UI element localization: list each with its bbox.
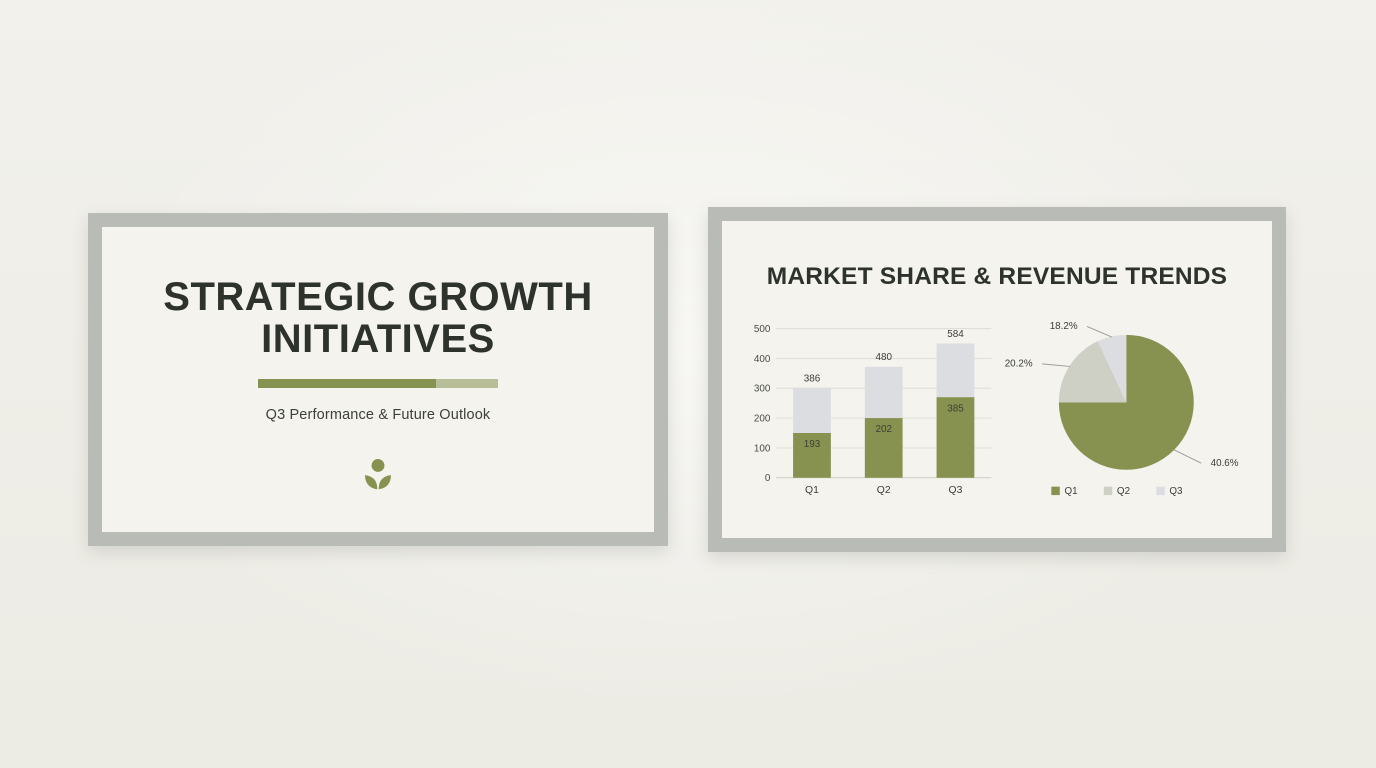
divider-segment-dark <box>258 379 436 388</box>
sprout-icon <box>360 457 396 491</box>
stacked-bar-chart[interactable]: 0100200300400500386193Q1480202Q2584385Q3 <box>744 307 997 522</box>
legend-swatch-Q1 <box>1051 487 1059 495</box>
chart-slide-frame[interactable]: MARKET SHARE & REVENUE TRENDS 0100200300… <box>708 207 1286 552</box>
chart-slide-surface: MARKET SHARE & REVENUE TRENDS 0100200300… <box>722 221 1272 538</box>
bar-segment-upper-Q3 <box>937 344 975 398</box>
y-tick-label: 0 <box>765 473 771 484</box>
legend-swatch-Q3 <box>1156 487 1164 495</box>
pie-leader-line-Q2 <box>1042 364 1070 367</box>
bar-segment-upper-Q2 <box>865 367 903 418</box>
bar-segment-label-Q2: 202 <box>875 424 892 435</box>
divider-segment-light <box>436 379 498 388</box>
pie-percent-label-Q3: 18.2% <box>1050 321 1078 332</box>
bar-category-label-Q3: Q3 <box>949 485 963 496</box>
stacked-bar-chart-svg: 0100200300400500386193Q1480202Q2584385Q3 <box>744 307 997 522</box>
bar-category-label-Q2: Q2 <box>877 485 891 496</box>
title-slide-frame[interactable]: STRATEGIC GROWTH INITIATIVES Q3 Performa… <box>88 213 668 546</box>
bar-segment-upper-Q1 <box>793 388 831 433</box>
legend-label-Q3: Q3 <box>1169 486 1183 497</box>
bar-total-label-Q1: 386 <box>804 374 821 385</box>
title-slide-surface: STRATEGIC GROWTH INITIATIVES Q3 Performa… <box>102 227 654 532</box>
y-tick-label: 400 <box>754 354 771 365</box>
bar-total-label-Q2: 480 <box>875 352 892 363</box>
pie-chart-svg: 40.6%20.2%18.2%Q1Q2Q3 <box>997 307 1250 522</box>
legend-label-Q2: Q2 <box>1117 486 1130 497</box>
y-tick-label: 500 <box>754 324 771 335</box>
legend-swatch-Q2 <box>1104 487 1112 495</box>
y-tick-label: 100 <box>754 443 771 454</box>
legend-label-Q1: Q1 <box>1064 486 1077 497</box>
chart-slide-content: MARKET SHARE & REVENUE TRENDS 0100200300… <box>722 221 1272 538</box>
deck-title: STRATEGIC GROWTH INITIATIVES <box>163 276 593 361</box>
pie-leader-line-Q3 <box>1087 326 1112 337</box>
deck-subtitle: Q3 Performance & Future Outlook <box>266 407 491 423</box>
bar-category-label-Q1: Q1 <box>805 485 819 496</box>
pie-chart[interactable]: 40.6%20.2%18.2%Q1Q2Q3 <box>997 307 1250 522</box>
y-tick-label: 200 <box>754 413 771 424</box>
chart-slide-title: MARKET SHARE & REVENUE TRENDS <box>744 263 1250 291</box>
bar-segment-label-Q1: 193 <box>804 439 821 450</box>
pie-percent-label-Q2: 20.2% <box>1005 359 1033 370</box>
y-tick-label: 300 <box>754 384 771 395</box>
charts-row: 0100200300400500386193Q1480202Q2584385Q3… <box>744 307 1250 522</box>
title-slide-content: STRATEGIC GROWTH INITIATIVES Q3 Performa… <box>102 227 654 532</box>
bar-total-label-Q3: 584 <box>947 329 964 340</box>
title-divider-bar <box>258 379 498 388</box>
pie-leader-line-Q1 <box>1174 450 1202 464</box>
pie-percent-label-Q1: 40.6% <box>1211 458 1239 469</box>
bar-segment-label-Q3: 385 <box>947 403 964 414</box>
